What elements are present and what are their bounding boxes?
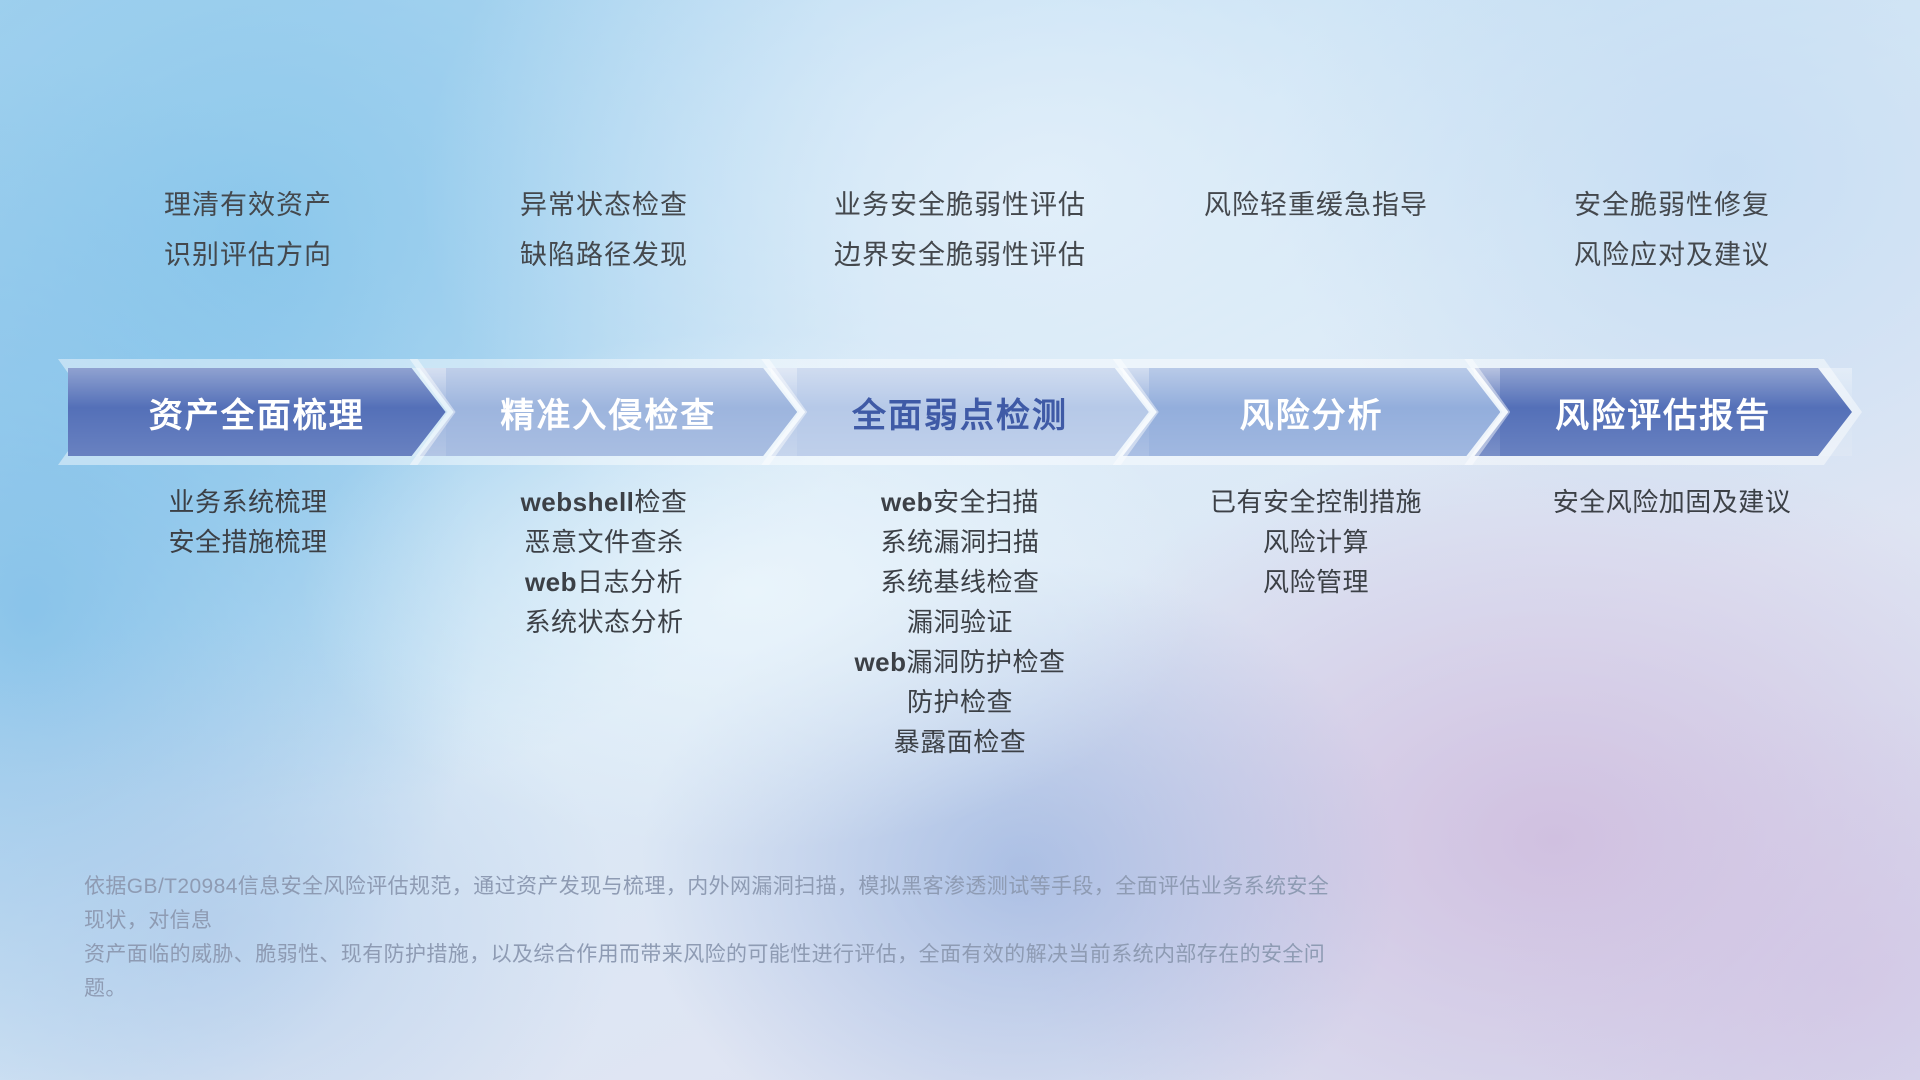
task-list-item: web安全扫描: [782, 482, 1138, 522]
task-list-item: web漏洞防护检查: [782, 642, 1138, 682]
task-item-text: 日志分析: [577, 567, 683, 597]
task-item-text: 安全风险加固及建议: [1553, 487, 1792, 517]
task-list-item: 恶意文件查杀: [426, 522, 782, 562]
task-item-text: 业务系统梳理: [168, 487, 327, 517]
task-item-text: 漏洞防护检查: [907, 647, 1066, 677]
task-list-item: 防护检查: [782, 682, 1138, 722]
task-list-item: web日志分析: [426, 562, 782, 602]
task-item-text: 系统漏洞扫描: [880, 527, 1039, 557]
task-list-item: 安全风险加固及建议: [1494, 482, 1850, 522]
task-item-text: 防护检查: [907, 687, 1013, 717]
upper-annotation-text: 风险应对及建议: [1494, 230, 1850, 280]
task-item-term: web: [881, 487, 933, 517]
task-list-item: 系统基线检查: [782, 562, 1138, 602]
upper-annotation-text: 安全脆弱性修复: [1494, 180, 1850, 230]
task-item-text: 风险管理: [1263, 567, 1369, 597]
upper-annotation-text: 理清有效资产: [70, 180, 426, 230]
task-list-item: 安全措施梳理: [70, 522, 426, 562]
upper-annotation-text: 缺陷路径发现: [426, 230, 782, 280]
task-item-text: 风险计算: [1263, 527, 1369, 557]
task-list-item: 暴露面检查: [782, 722, 1138, 762]
task-list-item: 漏洞验证: [782, 602, 1138, 642]
task-list-intrusion-check: webshell检查恶意文件查杀web日志分析系统状态分析: [426, 482, 782, 642]
process-stage-label: 风险分析: [1240, 388, 1384, 437]
task-list-item: 已有安全控制措施: [1138, 482, 1494, 522]
upper-annotation-text: 风险轻重缓急指导: [1138, 180, 1494, 230]
upper-annotation-group-weakness-detection: 业务安全脆弱性评估边界安全脆弱性评估: [782, 180, 1138, 280]
task-item-text: 系统状态分析: [524, 607, 683, 637]
task-list-item: 风险计算: [1138, 522, 1494, 562]
process-stage-label: 资产全面梳理: [149, 388, 365, 437]
process-stage-asset-inventory[interactable]: 资产全面梳理: [68, 368, 446, 456]
task-item-text: 暴露面检查: [894, 727, 1027, 757]
task-item-text: 漏洞验证: [907, 607, 1013, 637]
upper-annotation-group-intrusion-check: 异常状态检查缺陷路径发现: [426, 180, 782, 280]
task-list-asset-inventory: 业务系统梳理安全措施梳理: [70, 482, 426, 562]
upper-annotations-row: 理清有效资产识别评估方向异常状态检查缺陷路径发现业务安全脆弱性评估边界安全脆弱性…: [70, 180, 1850, 280]
process-stage-weakness-detection[interactable]: 全面弱点检测: [771, 368, 1149, 456]
task-item-text: 恶意文件查杀: [524, 527, 683, 557]
task-item-term: webshell: [521, 487, 635, 517]
footer-line-1: 依据GB/T20984信息安全风险评估规范，通过资产发现与梳理，内外网漏洞扫描，…: [84, 870, 1344, 938]
upper-annotation-text: 识别评估方向: [70, 230, 426, 280]
task-item-term: web: [525, 567, 577, 597]
upper-annotation-text: 边界安全脆弱性评估: [782, 230, 1138, 280]
task-list-item: 业务系统梳理: [70, 482, 426, 522]
task-list-item: 系统漏洞扫描: [782, 522, 1138, 562]
task-item-text: 检查: [634, 487, 687, 517]
footer-line-2: 资产面临的威胁、脆弱性、现有防护措施，以及综合作用而带来风险的可能性进行评估，全…: [84, 938, 1344, 1006]
task-item-text: 安全扫描: [933, 487, 1039, 517]
task-item-text: 安全措施梳理: [168, 527, 327, 557]
process-stage-label: 风险评估报告: [1555, 388, 1771, 437]
footer-description: 依据GB/T20984信息安全风险评估规范，通过资产发现与梳理，内外网漏洞扫描，…: [84, 870, 1344, 1006]
task-list-assessment-report: 安全风险加固及建议: [1494, 482, 1850, 522]
task-list-weakness-detection: web安全扫描系统漏洞扫描系统基线检查漏洞验证web漏洞防护检查防护检查暴露面检…: [782, 482, 1138, 762]
process-stage-label: 精准入侵检查: [500, 388, 716, 437]
process-stage-label: 全面弱点检测: [852, 388, 1068, 437]
task-list-item: webshell检查: [426, 482, 782, 522]
process-stage-assessment-report[interactable]: 风险评估报告: [1474, 368, 1852, 456]
process-chevron-band: 资产全面梳理精准入侵检查全面弱点检测风险分析风险评估报告: [68, 368, 1852, 456]
process-diagram: 理清有效资产识别评估方向异常状态检查缺陷路径发现业务安全脆弱性评估边界安全脆弱性…: [0, 0, 1920, 1080]
task-item-text: 系统基线检查: [880, 567, 1039, 597]
process-stage-risk-analysis[interactable]: 风险分析: [1123, 368, 1501, 456]
upper-annotation-group-risk-analysis: 风险轻重缓急指导: [1138, 180, 1494, 280]
process-stage-intrusion-check[interactable]: 精准入侵检查: [420, 368, 798, 456]
task-list-item: 风险管理: [1138, 562, 1494, 602]
task-item-term: web: [854, 647, 906, 677]
lower-task-lists-row: 业务系统梳理安全措施梳理webshell检查恶意文件查杀web日志分析系统状态分…: [70, 482, 1850, 762]
task-item-text: 已有安全控制措施: [1210, 487, 1422, 517]
upper-annotation-text: 异常状态检查: [426, 180, 782, 230]
task-list-risk-analysis: 已有安全控制措施风险计算风险管理: [1138, 482, 1494, 602]
upper-annotation-group-assessment-report: 安全脆弱性修复风险应对及建议: [1494, 180, 1850, 280]
task-list-item: 系统状态分析: [426, 602, 782, 642]
upper-annotation-text: 业务安全脆弱性评估: [782, 180, 1138, 230]
upper-annotation-group-asset-inventory: 理清有效资产识别评估方向: [70, 180, 426, 280]
